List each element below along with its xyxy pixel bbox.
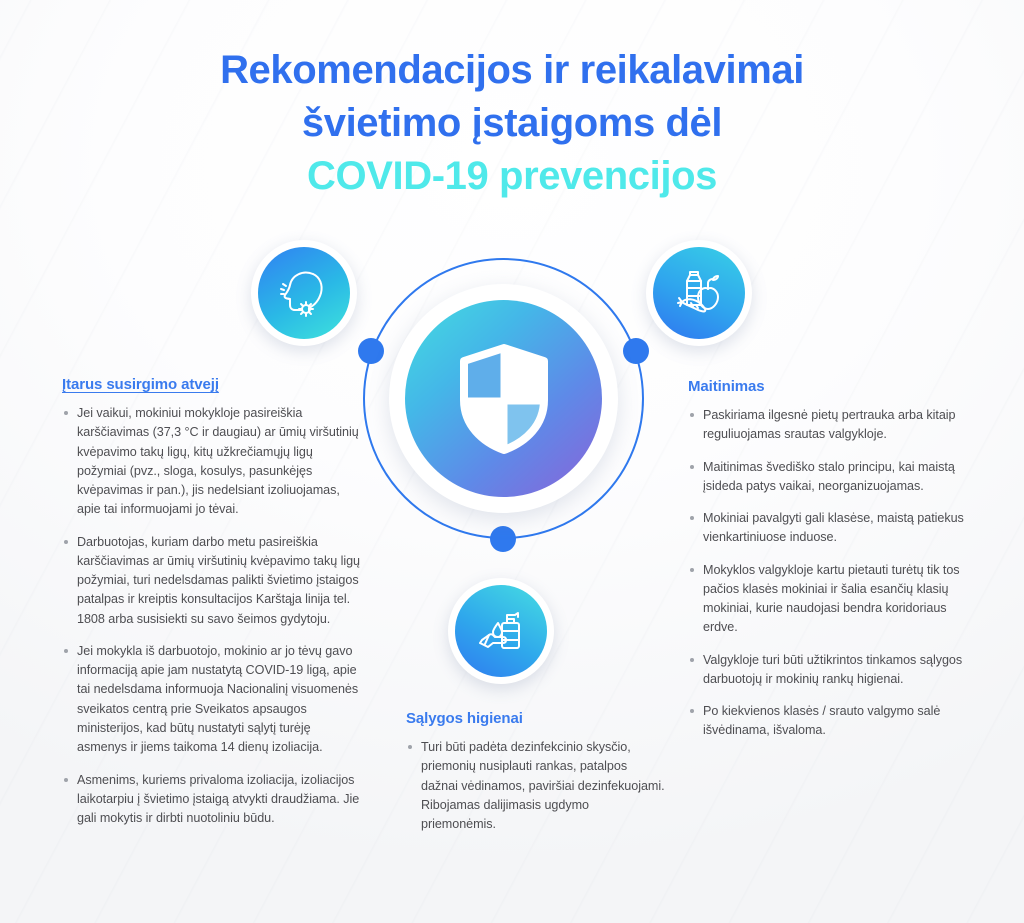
center-core-gradient (405, 300, 602, 497)
orbit-node-right (623, 338, 649, 364)
center-hub (363, 258, 648, 543)
list-item: Turi būti padėta dezinfekcinio skysčio, … (406, 738, 666, 834)
section-nutrition: Maitinimas Paskiriama ilgesnė pietų pert… (688, 378, 978, 741)
head-symptoms-icon (275, 264, 333, 322)
list-item: Maitinimas švediško stalo principu, kai … (688, 458, 978, 497)
badge-nutrition-gradient (653, 247, 745, 339)
infographic-page: Rekomendacijos ir reikalavimai švietimo … (0, 0, 1024, 923)
list-item: Asmenims, kuriems privaloma izoliacija, … (62, 771, 362, 829)
list-item: Valgykloje turi būti užtikrintos tinkamo… (688, 651, 978, 690)
food-nutrition-icon (670, 264, 728, 322)
list-item: Jei vaikui, mokiniui mokykloje pasireišk… (62, 404, 362, 520)
list-item: Po kiekvienos klasės / srauto valgymo sa… (688, 702, 978, 741)
badge-hygiene (448, 578, 554, 684)
section-suspected-case: Įtarus susirgimo atvejį Jei vaikui, moki… (62, 376, 362, 828)
badge-nutrition (646, 240, 752, 346)
title-line-2: švietimo įstaigoms dėl (0, 97, 1024, 150)
list-item: Paskiriama ilgesnė pietų pertrauka arba … (688, 406, 978, 445)
section-hygiene: Sąlygos higienai Turi būti padėta dezinf… (406, 710, 666, 834)
badge-suspected-case (251, 240, 357, 346)
bullet-list-nutrition: Paskiriama ilgesnė pietų pertrauka arba … (688, 406, 978, 741)
badge-suspected-case-gradient (258, 247, 350, 339)
bullet-list-hygiene: Turi būti padėta dezinfekcinio skysčio, … (406, 738, 666, 834)
list-item: Mokiniai pavalgyti gali klasėse, maistą … (688, 509, 978, 548)
list-item: Mokyklos valgykloje kartu pietauti turėt… (688, 561, 978, 638)
section-heading-suspected-case: Įtarus susirgimo atvejį (62, 376, 362, 393)
list-item: Jei mokykla iš darbuotojo, mokinio ar jo… (62, 642, 362, 758)
title-line-3: COVID-19 prevencijos (0, 150, 1024, 203)
bullet-list-suspected-case: Jei vaikui, mokiniui mokykloje pasireišk… (62, 404, 362, 828)
section-heading-nutrition: Maitinimas (688, 378, 978, 395)
page-title: Rekomendacijos ir reikalavimai švietimo … (0, 44, 1024, 202)
title-line-1: Rekomendacijos ir reikalavimai (0, 44, 1024, 97)
list-item: Darbuotojas, kuriam darbo metu pasireišk… (62, 533, 362, 629)
orbit-node-bottom (490, 526, 516, 552)
badge-hygiene-gradient (455, 585, 547, 677)
orbit-node-left (358, 338, 384, 364)
shield-icon (456, 344, 552, 454)
center-core (389, 284, 618, 513)
hand-sanitizer-icon (472, 602, 530, 660)
section-heading-hygiene: Sąlygos higienai (406, 710, 666, 727)
